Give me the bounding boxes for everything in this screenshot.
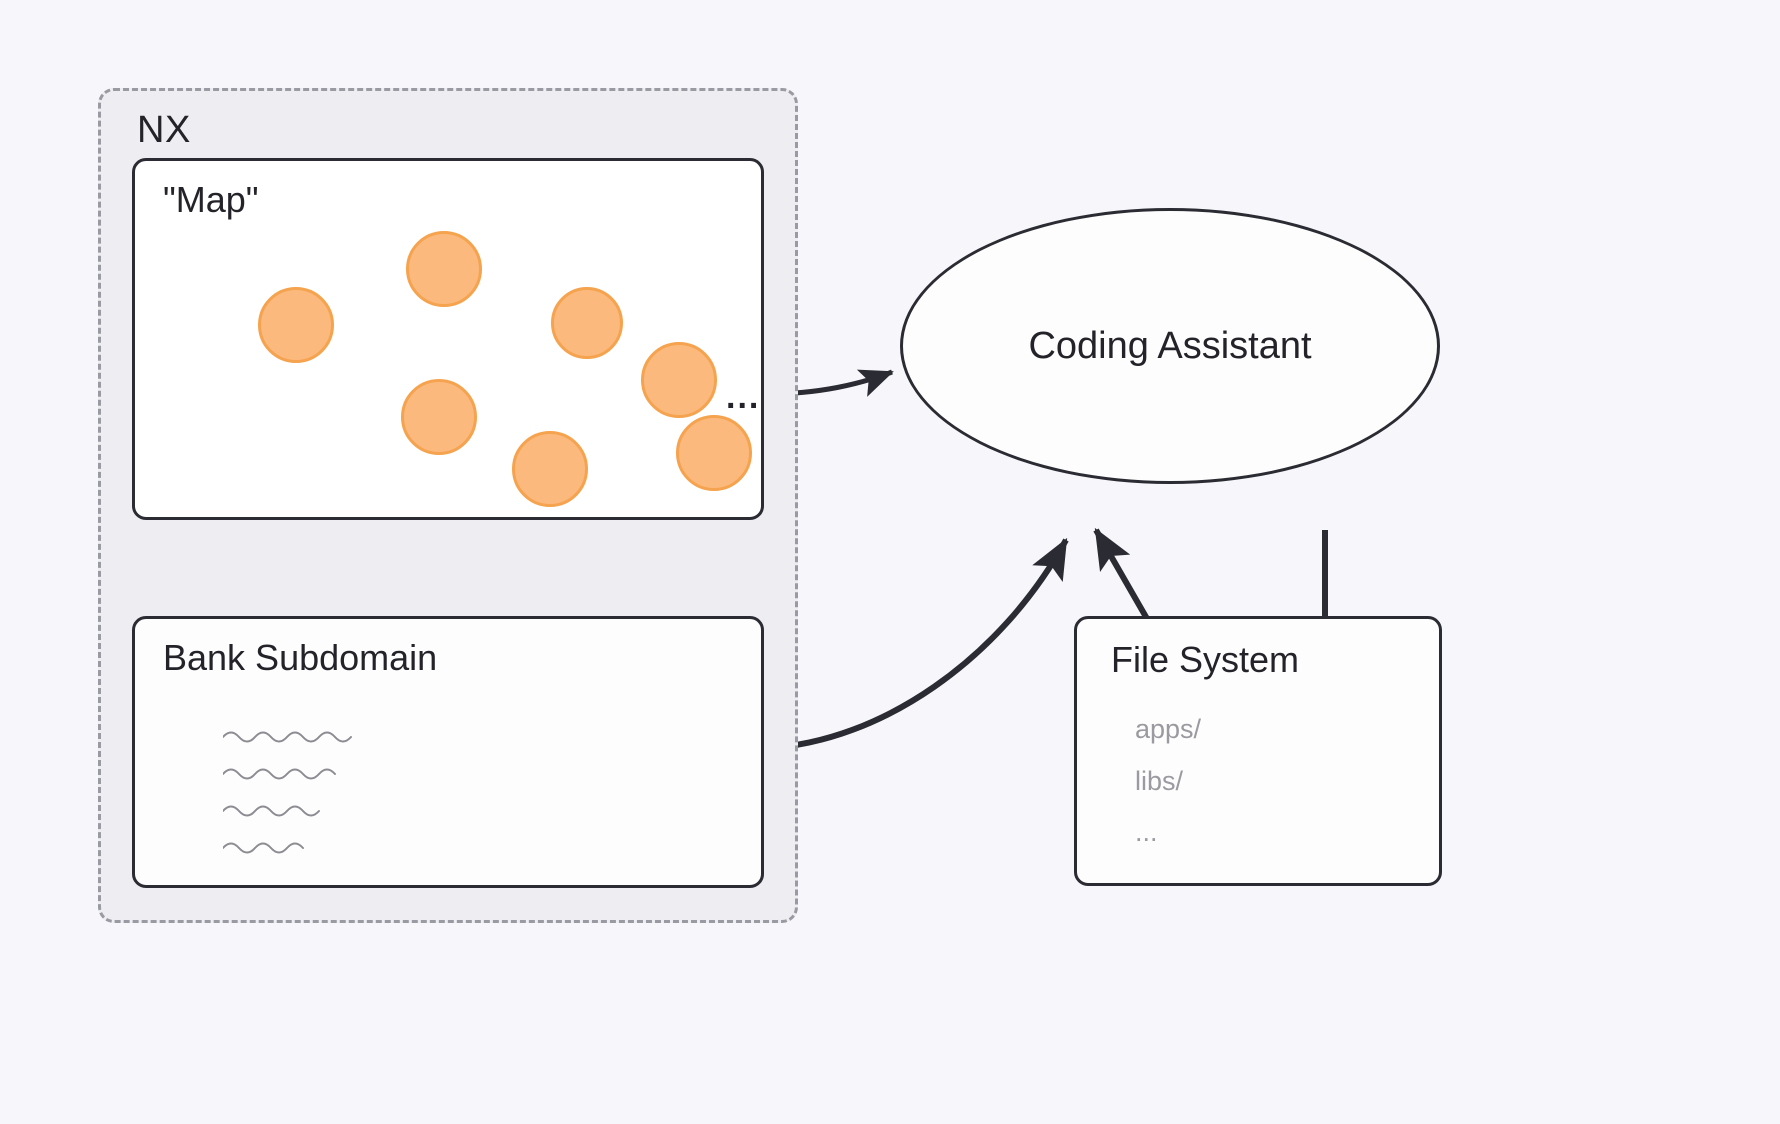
graph-node-n7[interactable] xyxy=(676,415,752,491)
graph-ellipsis: ... xyxy=(726,380,760,414)
graph-node-n5[interactable] xyxy=(401,379,477,455)
bank-card-title: Bank Subdomain xyxy=(163,637,437,679)
bank-card: Bank Subdomain xyxy=(132,616,764,888)
file-system-list: apps/ libs/ ... xyxy=(1135,715,1201,848)
coding-assistant-node[interactable]: Coding Assistant xyxy=(900,208,1440,484)
graph-node-n6[interactable] xyxy=(512,431,588,507)
map-card-title: "Map" xyxy=(163,179,259,221)
map-card: "Map" ... xyxy=(132,158,764,520)
graph-node-n4[interactable] xyxy=(641,342,717,418)
graph-node-n2[interactable] xyxy=(406,231,482,307)
nx-label: NX xyxy=(137,109,191,152)
connector-bank-to-assistant xyxy=(768,540,1066,748)
list-item: apps/ xyxy=(1135,715,1201,745)
graph-node-n1[interactable] xyxy=(258,287,334,363)
coding-assistant-label: Coding Assistant xyxy=(1028,325,1311,368)
diagram-canvas: NX "Map" ... Bank Subdomain Coding Assis… xyxy=(0,0,1780,1124)
file-system-title: File System xyxy=(1111,639,1299,681)
list-item: ... xyxy=(1135,818,1201,848)
placeholder-text-squiggles xyxy=(223,727,423,867)
list-item: libs/ xyxy=(1135,767,1201,797)
graph-node-n3[interactable] xyxy=(551,287,623,359)
file-system: File System apps/ libs/ ... xyxy=(1074,616,1442,886)
